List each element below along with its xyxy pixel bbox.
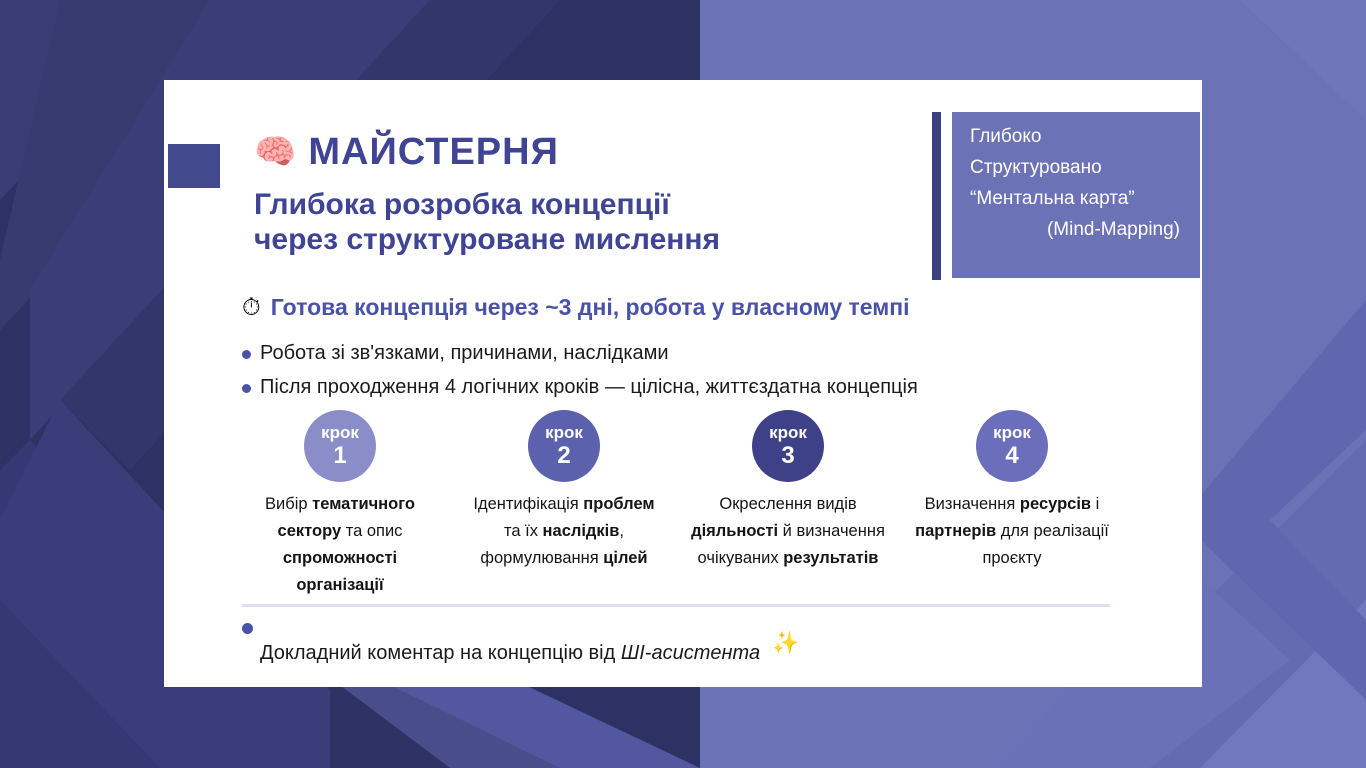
brain-icon: 🧠 bbox=[254, 135, 296, 169]
step-description: Вибір тематичного сектору та опис спромо… bbox=[242, 491, 438, 599]
step-description: Визначення ресурсів і партнерів для реал… bbox=[914, 491, 1110, 572]
method-badge: Глибоко Структуровано “Ментальна карта” … bbox=[952, 112, 1200, 278]
step-word: крок bbox=[545, 424, 583, 441]
step-circle-3: крок 3 bbox=[752, 410, 824, 482]
footer-text: Докладний коментар на концепцію від ШІ-а… bbox=[260, 642, 760, 665]
steps-row: крок 1 Вибір тематичного сектору та опис… bbox=[242, 410, 1110, 599]
bullet-dot-icon bbox=[242, 384, 251, 393]
list-item: Після проходження 4 логічних кроків — ці… bbox=[242, 375, 918, 400]
list-item: Робота зі зв'язками, причинами, наслідка… bbox=[242, 341, 918, 366]
badge-accent-bar bbox=[932, 112, 941, 280]
slide-header: 🧠 МАЙСТЕРНЯ Глибока розробка концепції ч… bbox=[254, 133, 914, 258]
step-circle-1: крок 1 bbox=[304, 410, 376, 482]
timing-row: ⏱ Готова концепція через ~3 дні, робота … bbox=[242, 294, 910, 321]
step-number: 1 bbox=[333, 444, 346, 468]
stopwatch-icon: ⏱ bbox=[242, 296, 261, 320]
footer-row: Докладний коментар на концепцію від ШІ-а… bbox=[242, 642, 922, 665]
badge-line-1: Глибоко bbox=[970, 122, 1186, 153]
page-title: Глибока розробка концепції через структу… bbox=[254, 187, 914, 258]
bullet-text: Після проходження 4 логічних кроків — ці… bbox=[260, 375, 918, 400]
sparkles-icon: ✨ bbox=[772, 632, 799, 654]
step-circle-4: крок 4 bbox=[976, 410, 1048, 482]
bullet-dot-icon bbox=[242, 350, 251, 359]
eyebrow-row: 🧠 МАЙСТЕРНЯ bbox=[254, 133, 914, 171]
bullet-dot-icon bbox=[242, 623, 253, 634]
footer-note: Докладний коментар на концепцію від ШІ-а… bbox=[242, 623, 922, 665]
badge-line-4: (Mind-Mapping) bbox=[970, 215, 1186, 246]
bullet-list: Робота зі зв'язками, причинами, наслідка… bbox=[242, 341, 918, 409]
step-item-4: крок 4 Визначення ресурсів і партнерів д… bbox=[914, 410, 1110, 599]
footer-divider bbox=[242, 604, 1110, 607]
step-word: крок bbox=[993, 424, 1031, 441]
step-number: 2 bbox=[557, 444, 570, 468]
step-item-1: крок 1 Вибір тематичного сектору та опис… bbox=[242, 410, 438, 599]
timing-text: Готова концепція через ~3 дні, робота у … bbox=[271, 294, 910, 321]
step-word: крок bbox=[321, 424, 359, 441]
step-number: 3 bbox=[781, 444, 794, 468]
step-description: Ідентифікація проблем та їх наслідків, ф… bbox=[466, 491, 662, 572]
badge-line-2: Структуровано bbox=[970, 153, 1186, 184]
badge-line-3: “Ментальна карта” bbox=[970, 184, 1186, 215]
step-number: 4 bbox=[1005, 444, 1018, 468]
step-description: Окреслення видів діяльності й визначення… bbox=[690, 491, 886, 572]
step-circle-2: крок 2 bbox=[528, 410, 600, 482]
eyebrow-title: МАЙСТЕРНЯ bbox=[308, 133, 559, 171]
step-word: крок bbox=[769, 424, 807, 441]
step-item-2: крок 2 Ідентифікація проблем та їх наслі… bbox=[466, 410, 662, 599]
title-accent-tab bbox=[168, 144, 220, 188]
step-item-3: крок 3 Окреслення видів діяльності й виз… bbox=[690, 410, 886, 599]
bullet-text: Робота зі зв'язками, причинами, наслідка… bbox=[260, 341, 669, 366]
